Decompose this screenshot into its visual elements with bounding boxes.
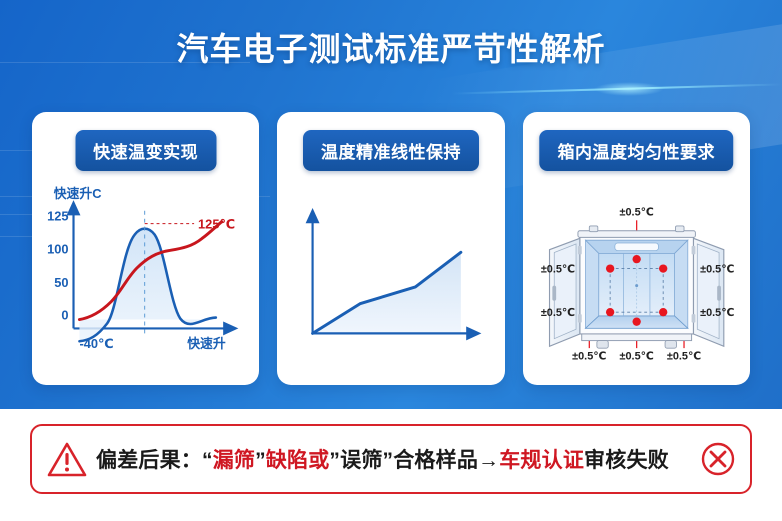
chamber-right-door-handle[interactable] [717, 286, 721, 301]
chamber-caster [597, 341, 608, 349]
warning-mid-1: ” [255, 449, 266, 472]
sensor-dot-lower-left [606, 308, 614, 316]
y-tick-0: 0 [61, 308, 68, 323]
hinge [578, 314, 582, 323]
card-chamber-uniformity[interactable]: 箱内温度均匀性要求 [523, 112, 750, 385]
circle-x-icon [700, 441, 736, 477]
chamber-left-wall [585, 240, 598, 328]
hinge [691, 246, 695, 255]
chamber-left-door-window [554, 244, 576, 339]
card-row: 快速温变实现 快速升C [32, 112, 750, 385]
chamber-top-fitting [589, 226, 598, 232]
card-title-badge-1: 快速温变实现 [75, 130, 216, 171]
hinge [578, 246, 582, 255]
label-right-upper: ±0.5℃ [700, 263, 734, 275]
label-right-lower: ±0.5℃ [700, 307, 734, 319]
x-axis-title: 快速升 [187, 336, 226, 351]
warning-text: 偏差后果：“漏筛”缺陷或”误筛”合格样品→车规认证审核失败 [88, 444, 694, 474]
y-tick-125: 125 [47, 209, 68, 224]
chamber-left-door-handle[interactable] [552, 286, 556, 301]
warning-red-3: 车规认证 [499, 449, 584, 472]
warning-section: 偏差后果：“漏筛”缺陷或”误筛”合格样品→车规认证审核失败 [0, 409, 782, 521]
annotation-125c: 125℃ [198, 217, 235, 232]
light-glow [594, 82, 664, 96]
card-rapid-temperature-change[interactable]: 快速温变实现 快速升C [32, 112, 259, 385]
label-bottom-left: ±0.5℃ [572, 351, 606, 363]
card-title-badge-3: 箱内温度均匀性要求 [540, 130, 734, 171]
chart-rapid-temperature-change: 快速升C 125 100 50 0 [32, 174, 259, 385]
warning-triangle-icon [46, 439, 88, 479]
warning-prefix: 偏差后果：“ [96, 449, 213, 472]
sensor-dot-upper-left [606, 264, 614, 272]
hero-background: 汽车电子测试标准严苛性解析 快速温变实现 [0, 0, 782, 409]
chamber-caster [665, 341, 676, 349]
label-left-upper: ±0.5℃ [540, 263, 574, 275]
y-tick-100: 100 [47, 241, 68, 256]
chamber-right-door-window [697, 244, 719, 339]
label-bottom-center: ±0.5℃ [619, 351, 653, 363]
label-bottom-right: ±0.5℃ [667, 351, 701, 363]
card-title-badge-2: 温度精准线性保持 [303, 130, 479, 171]
chamber-light-bar [615, 243, 659, 251]
warning-mid-2: ”误筛”合格样品→ [329, 449, 499, 472]
hinge [691, 314, 695, 323]
diagram-chamber-uniformity: ±0.5℃ ±0.5℃ ±0.5℃ ±0.5℃ ±0.5℃ ±0.5℃ ±0.5… [523, 174, 750, 385]
sensor-dot-top-center [632, 255, 640, 263]
page-title: 汽车电子测试标准严苛性解析 [0, 24, 782, 70]
chart-linear-temperature-hold [277, 174, 504, 385]
sensor-dot-upper-right [659, 264, 667, 272]
sensor-dot-bottom-center [632, 317, 640, 325]
x-start-label: -40℃ [79, 336, 113, 351]
chamber-top-fitting [675, 226, 684, 232]
chamber-base [581, 334, 691, 341]
y-tick-50: 50 [54, 275, 68, 290]
slide-root: 汽车电子测试标准严苛性解析 快速温变实现 [0, 0, 782, 521]
y-axis-title: 快速升C [54, 186, 102, 201]
card-linear-temperature-hold[interactable]: 温度精准线性保持 [277, 112, 504, 385]
warning-suffix: 审核失败 [584, 449, 669, 472]
warning-red-1: 漏筛 [213, 449, 255, 472]
label-top-center: ±0.5℃ [619, 207, 653, 219]
warning-banner: 偏差后果：“漏筛”缺陷或”误筛”合格样品→车规认证审核失败 [30, 424, 752, 494]
sensor-dot-lower-right [659, 308, 667, 316]
chamber-center-marker [635, 284, 638, 287]
chamber-right-wall [674, 240, 687, 328]
warning-red-2: 缺陷或 [266, 449, 330, 472]
label-left-lower: ±0.5℃ [540, 307, 574, 319]
